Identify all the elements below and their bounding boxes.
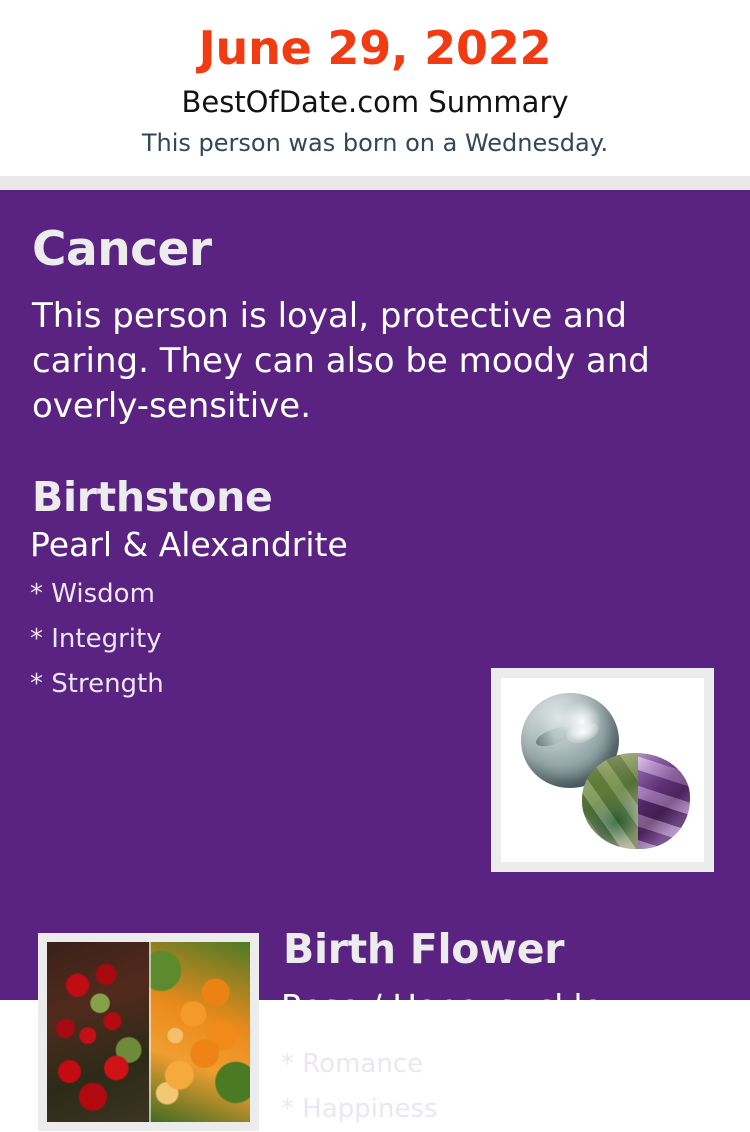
zodiac-description: This person is loyal, protective and car…: [32, 294, 672, 429]
birthstone-title: Birthstone: [32, 473, 272, 521]
page-title-date: June 29, 2022: [0, 21, 750, 75]
birth-flower-title: Birth Flower: [283, 925, 564, 973]
summary-body: Cancer This person is loyal, protective …: [0, 190, 750, 1000]
list-item: * Romance: [281, 1042, 711, 1087]
list-item: * Strength: [30, 662, 460, 707]
photo-split-divider: [149, 942, 151, 1122]
header: June 29, 2022 BestOfDate.com Summary Thi…: [0, 0, 750, 176]
list-item: * Happiness: [281, 1087, 711, 1132]
birthstone-photo-frame: [491, 668, 714, 872]
birthstone-photo: [501, 678, 704, 862]
alexandrite-rough-half: [582, 753, 638, 849]
alexandrite-faceted-half: [638, 753, 690, 849]
birthstone-traits-list: * Wisdom * Integrity * Strength: [30, 572, 460, 707]
alexandrite-gem-icon: [582, 753, 690, 849]
list-item: * Integrity: [30, 617, 460, 662]
birth-flower-traits-list: * Romance * Happiness: [281, 1042, 711, 1132]
header-divider: [0, 176, 750, 190]
birth-flower-photo: [47, 942, 250, 1122]
list-item: * Wisdom: [30, 572, 460, 617]
birth-flower-photo-frame: [38, 933, 259, 1131]
site-name: BestOfDate.com Summary: [0, 84, 750, 120]
red-roses-image: [47, 942, 149, 1122]
zodiac-sign-title: Cancer: [32, 222, 212, 278]
birthstone-name: Pearl & Alexandrite: [30, 524, 348, 566]
birth-flower-name: Rose / Honeysuckle: [281, 986, 603, 1028]
orange-honeysuckle-image: [149, 942, 251, 1122]
birth-day-note: This person was born on a Wednesday.: [0, 128, 750, 158]
date-summary-card: June 29, 2022 BestOfDate.com Summary Thi…: [0, 0, 750, 1000]
pearl-highlight-band: [533, 723, 575, 751]
